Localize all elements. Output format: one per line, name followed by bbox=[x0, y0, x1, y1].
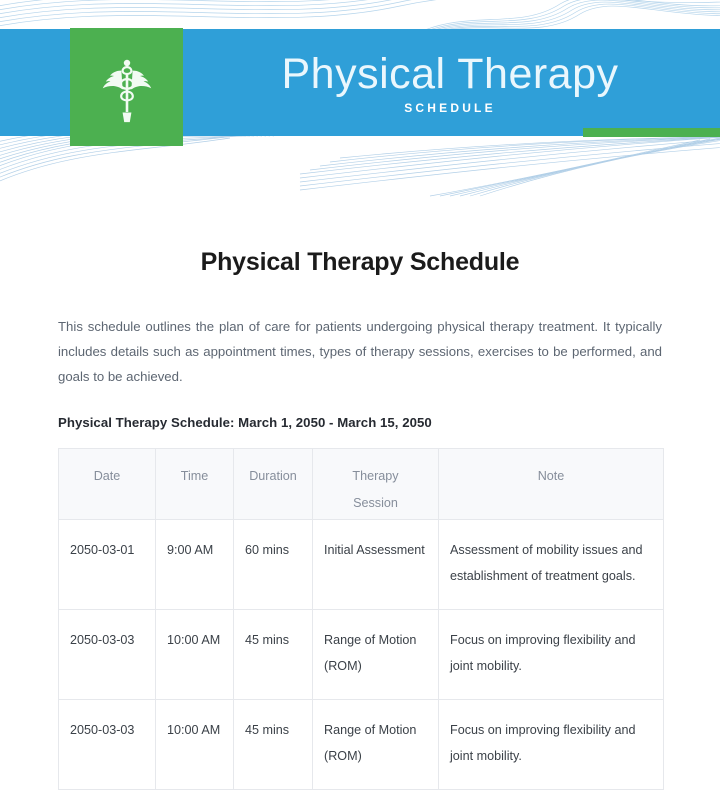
cell-time: 10:00 AM bbox=[156, 610, 234, 700]
cell-duration: 45 mins bbox=[234, 700, 313, 790]
cell-note: Focus on improving flexibility and joint… bbox=[439, 610, 664, 700]
column-header-therapy-session: Therapy Session bbox=[313, 449, 439, 520]
cell-session: Range of Motion (ROM) bbox=[313, 610, 439, 700]
caduceus-icon bbox=[96, 51, 158, 123]
cell-time: 9:00 AM bbox=[156, 520, 234, 610]
cell-note: Focus on improving flexibility and joint… bbox=[439, 700, 664, 790]
cell-date: 2050-03-03 bbox=[59, 610, 156, 700]
table-header-row: Date Time Duration Therapy Session Note bbox=[59, 449, 664, 520]
table-body: 2050-03-01 9:00 AM 60 mins Initial Asses… bbox=[59, 520, 664, 790]
column-header-duration: Duration bbox=[234, 449, 313, 520]
cell-time: 10:00 AM bbox=[156, 700, 234, 790]
header-title: Physical Therapy bbox=[240, 48, 660, 100]
column-header-note: Note bbox=[439, 449, 664, 520]
header-subtitle: SCHEDULE bbox=[240, 101, 660, 115]
column-header-therapy-session-line1: Therapy bbox=[319, 463, 432, 490]
cell-duration: 60 mins bbox=[234, 520, 313, 610]
schedule-table: Date Time Duration Therapy Session Note … bbox=[58, 448, 664, 790]
document-header: Physical Therapy SCHEDULE bbox=[0, 0, 720, 198]
cell-date: 2050-03-03 bbox=[59, 700, 156, 790]
cell-session: Range of Motion (ROM) bbox=[313, 700, 439, 790]
cell-note: Assessment of mobility issues and establ… bbox=[439, 520, 664, 610]
schedule-subheading: Physical Therapy Schedule: March 1, 2050… bbox=[58, 415, 720, 430]
column-header-date: Date bbox=[59, 449, 156, 520]
intro-paragraph: This schedule outlines the plan of care … bbox=[58, 314, 662, 389]
table-row: 2050-03-01 9:00 AM 60 mins Initial Asses… bbox=[59, 520, 664, 610]
cell-duration: 45 mins bbox=[234, 610, 313, 700]
table-row: 2050-03-03 10:00 AM 45 mins Range of Mot… bbox=[59, 700, 664, 790]
column-header-time: Time bbox=[156, 449, 234, 520]
table-header: Date Time Duration Therapy Session Note bbox=[59, 449, 664, 520]
header-text-block: Physical Therapy SCHEDULE bbox=[240, 48, 660, 115]
header-green-accent-bar bbox=[583, 128, 720, 137]
cell-session: Initial Assessment bbox=[313, 520, 439, 610]
cell-date: 2050-03-01 bbox=[59, 520, 156, 610]
logo-tile bbox=[70, 28, 183, 146]
page-title: Physical Therapy Schedule bbox=[0, 248, 720, 277]
document-body: Physical Therapy Schedule This schedule … bbox=[0, 198, 720, 790]
table-row: 2050-03-03 10:00 AM 45 mins Range of Mot… bbox=[59, 610, 664, 700]
column-header-therapy-session-line2: Session bbox=[319, 490, 432, 517]
